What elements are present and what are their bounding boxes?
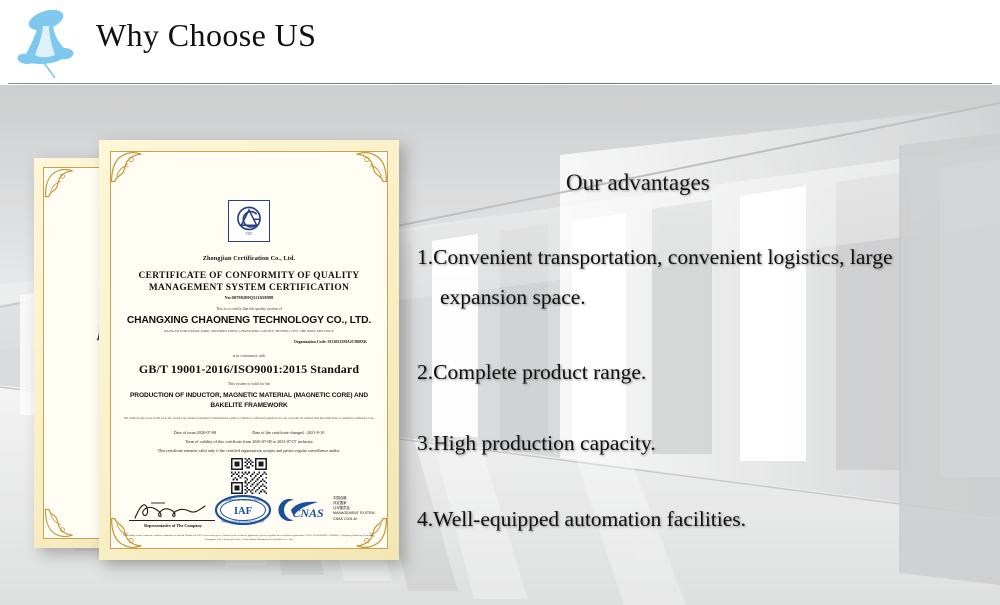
advantages-heading: Our advantages xyxy=(566,170,710,196)
certificate-heading: CERTIFICATE OF CONFORMITY OF QUALITY MAN… xyxy=(121,270,377,295)
cnas-en-line2: CNAS C001-M xyxy=(333,517,374,522)
cnas-en-line1: MANAGEMENT SYSTEM xyxy=(333,511,374,516)
cnas-logo-icon: CNAS xyxy=(278,497,330,523)
certificate-heading-line2: MANAGEMENT SYSTEM CERTIFICATION xyxy=(149,283,349,293)
certificate-issuer: Zhongjian Certification Co., Ltd. xyxy=(121,255,377,262)
svg-text:IAF: IAF xyxy=(234,506,252,517)
qr-code xyxy=(231,458,267,494)
ornament-corner-icon xyxy=(42,166,76,200)
certificate-company-name: CHANGXING CHAONENG TECHNOLOGY CO., LTD. xyxy=(121,315,377,326)
advantage-item-1-line2: expansion space. xyxy=(440,287,586,309)
advantage-item-4: 4.Well-equipped automation facilities. xyxy=(417,509,746,531)
ornament-corner-icon xyxy=(355,150,389,184)
svg-text:CNAS: CNAS xyxy=(292,506,324,520)
advantage-item-1-line1: 1.Convenient transportation, convenient … xyxy=(417,247,893,269)
header-divider xyxy=(8,83,992,84)
certificate-lead-text: This is to certify that the quality syst… xyxy=(121,307,377,311)
certificate-front: CQC Zhongjian Certification Co., Ltd. CE… xyxy=(99,140,399,560)
signature-icon xyxy=(131,500,213,522)
certificate-address: BAITUAN INDUSTRIAL PARK, MEISHAN TOWN, C… xyxy=(121,329,377,333)
certificate-note: This certificate only proves for this bo… xyxy=(121,417,377,421)
pushpin-icon xyxy=(14,6,84,78)
certificate-heading-line1: CERTIFICATE OF CONFORMITY OF QUALITY xyxy=(139,271,360,281)
certificate-front-inner: CQC Zhongjian Certification Co., Ltd. CE… xyxy=(110,151,388,549)
certificate-date-changed: Date of the certificate changed : 2021-8… xyxy=(252,430,324,435)
certificate-scope: PRODUCTION OF INDUCTOR, MAGNETIC MATERIA… xyxy=(121,391,377,410)
certificate-scope-line1: PRODUCTION OF INDUCTOR, MAGNETIC MATERIA… xyxy=(130,392,368,399)
page-title: Why Choose US xyxy=(96,17,316,54)
cqc-logo-icon: CQC xyxy=(228,200,270,242)
certificate-org-code: Organization Code: 91330523MA2C9R8XK xyxy=(294,340,367,344)
certificate-surveillance-note: This certificate remains valid only if t… xyxy=(121,448,377,453)
svg-text:CQC: CQC xyxy=(245,232,253,236)
certificate-date-of-issue: Date of issue:2020-07-08 xyxy=(174,430,217,435)
cnas-accreditation-text: 中国合格 评定国家 认可委员会 MANAGEMENT SYSTEM CNAS C… xyxy=(333,496,374,522)
svg-text:RECOGNITION ARRANGEMENT: RECOGNITION ARRANGEMENT xyxy=(221,520,265,524)
certificate-scope-line2: BAKELITE FRAMEWORK xyxy=(210,402,287,409)
advantage-item-2: 2.Complete product range. xyxy=(417,362,646,384)
iaf-logo-icon: IAF MEMBER OF MULTILATERAL RECOGNITION A… xyxy=(215,495,271,525)
ornament-corner-icon xyxy=(42,506,76,540)
advantage-item-3: 3.High production capacity. xyxy=(417,433,656,455)
certificate-standard: GB/T 19001-2016/ISO9001:2015 Standard xyxy=(121,362,377,377)
certificate-term-of-validity: Term of validity of this certificate fro… xyxy=(121,439,377,444)
signature-rule xyxy=(129,520,215,521)
why-choose-us-banner: Why Choose US xyxy=(0,0,1000,605)
page-header: Why Choose US xyxy=(0,0,1000,85)
certificate-dates: Date of issue:2020-07-08Date of the cert… xyxy=(121,430,377,435)
certificate-conformity-label: is in conformity with xyxy=(121,354,377,358)
certificate-footer-note: The validity of this certificate could b… xyxy=(123,534,375,542)
ornament-corner-icon xyxy=(109,150,143,184)
certificate-number: No:00798209Q521658098 xyxy=(121,295,377,300)
signature-label: Representative of The Company xyxy=(125,523,221,528)
svg-text:MEMBER OF MULTILATERAL: MEMBER OF MULTILATERAL xyxy=(223,498,263,502)
certificate-validfor-label: This system is valid for the xyxy=(121,382,377,386)
